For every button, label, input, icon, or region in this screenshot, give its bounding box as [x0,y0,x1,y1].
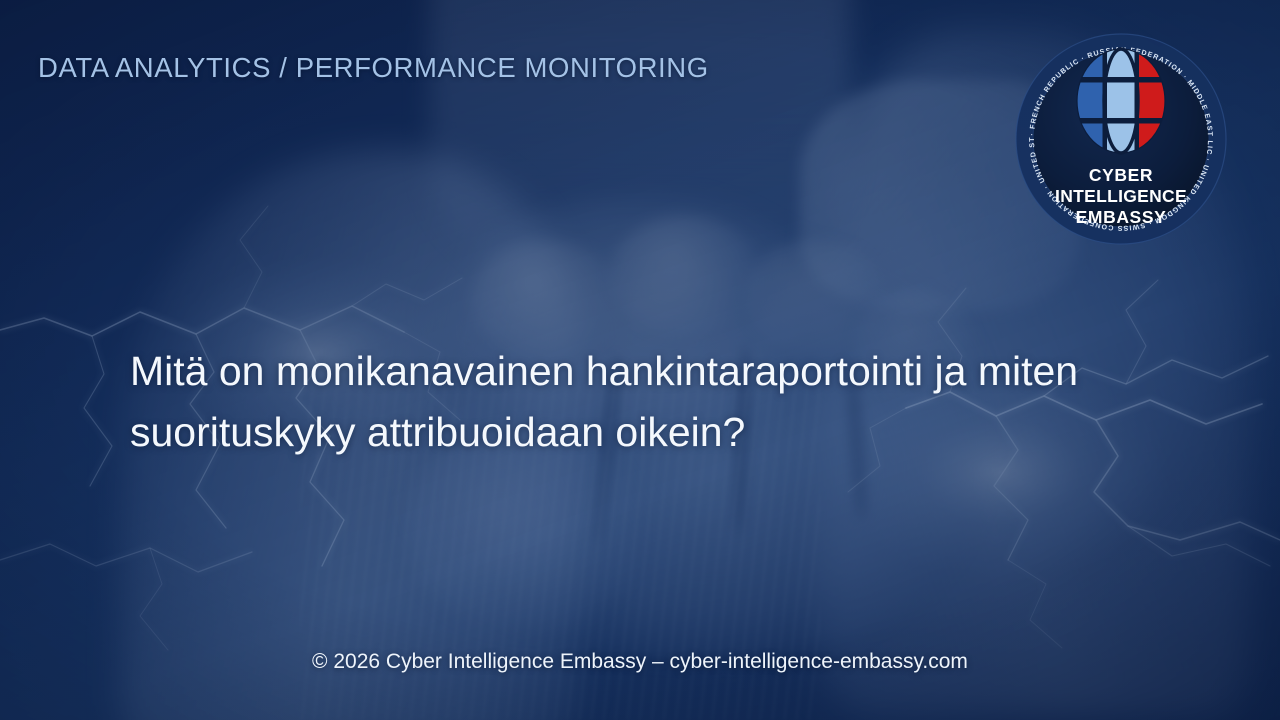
seal-title-line-1: CYBER [1089,165,1153,185]
seal-icon: EUROPEAN UNION · FRENCH REPUBLIC · RUSSI… [1012,30,1230,248]
slide-category-label: DATA ANALYTICS / PERFORMANCE MONITORING [38,52,709,84]
presentation-slide: DATA ANALYTICS / PERFORMANCE MONITORING … [0,0,1280,720]
seal-title-line-2: INTELLIGENCE [1055,186,1187,206]
seal-title-line-3: EMBASSY [1076,207,1167,227]
headline-line-2: suorituskyky attribuoidaan oikein? [130,402,1160,463]
slide-headline: Mitä on monikanavainen hankintaraportoin… [130,341,1160,463]
organization-logo[interactable]: EUROPEAN UNION · FRENCH REPUBLIC · RUSSI… [1012,30,1230,248]
slide-footer-copyright: © 2026 Cyber Intelligence Embassy – cybe… [0,650,1280,674]
headline-line-1: Mitä on monikanavainen hankintaraportoin… [130,341,1160,402]
